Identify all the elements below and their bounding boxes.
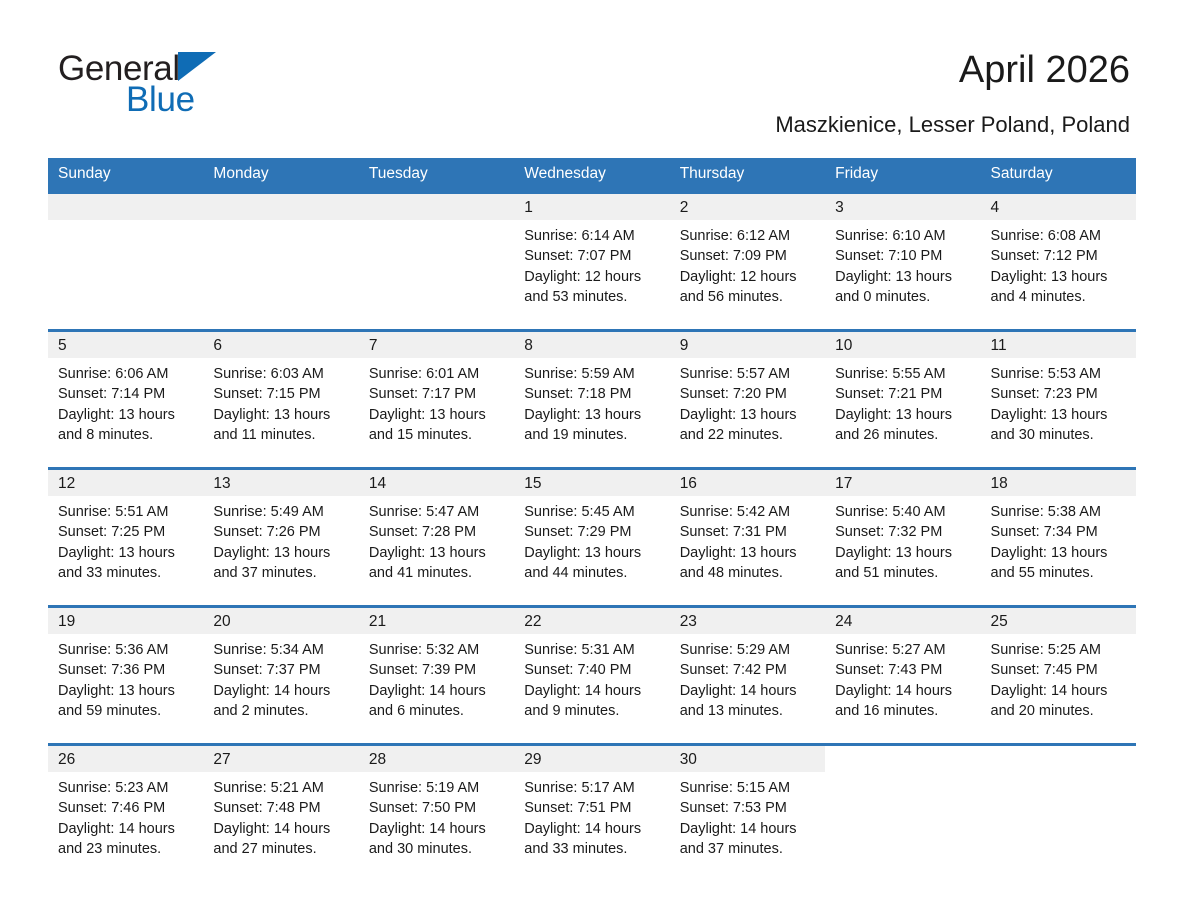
sunrise-sunset-calendar: Sunday Monday Tuesday Wednesday Thursday… <box>48 158 1136 872</box>
sunrise-text: Sunrise: 6:03 AM <box>213 364 358 384</box>
sunset-text: Sunset: 7:40 PM <box>524 660 669 680</box>
week-spacer-cell <box>48 596 1136 605</box>
daylight-text-line1: Daylight: 13 hours <box>58 681 203 701</box>
day-number: 7 <box>359 332 514 358</box>
week-spacer <box>48 734 1136 743</box>
daylight-text-line1: Daylight: 13 hours <box>58 405 203 425</box>
day-details: Sunrise: 5:49 AMSunset: 7:26 PMDaylight:… <box>203 496 358 583</box>
calendar-week-row: 1Sunrise: 6:14 AMSunset: 7:07 PMDaylight… <box>48 194 1136 320</box>
day-cell-6[interactable]: 6Sunrise: 6:03 AMSunset: 7:15 PMDaylight… <box>203 332 358 458</box>
daylight-text-line1: Daylight: 14 hours <box>680 819 825 839</box>
day-details: Sunrise: 5:51 AMSunset: 7:25 PMDaylight:… <box>48 496 203 583</box>
day-cell-7[interactable]: 7Sunrise: 6:01 AMSunset: 7:17 PMDaylight… <box>359 332 514 458</box>
sunset-text: Sunset: 7:42 PM <box>680 660 825 680</box>
day-cell-5[interactable]: 5Sunrise: 6:06 AMSunset: 7:14 PMDaylight… <box>48 332 203 458</box>
day-number <box>981 746 1136 772</box>
calendar-day-cell[interactable]: 7Sunrise: 6:01 AMSunset: 7:17 PMDaylight… <box>359 332 514 458</box>
sunset-text: Sunset: 7:36 PM <box>58 660 203 680</box>
week-spacer <box>48 458 1136 467</box>
day-cell-21[interactable]: 21Sunrise: 5:32 AMSunset: 7:39 PMDayligh… <box>359 608 514 734</box>
sunrise-text: Sunrise: 5:21 AM <box>213 778 358 798</box>
calendar-day-cell[interactable]: 22Sunrise: 5:31 AMSunset: 7:40 PMDayligh… <box>514 608 669 734</box>
daylight-text-line1: Daylight: 13 hours <box>680 543 825 563</box>
day-cell-17[interactable]: 17Sunrise: 5:40 AMSunset: 7:32 PMDayligh… <box>825 470 980 596</box>
calendar-day-cell[interactable]: 1Sunrise: 6:14 AMSunset: 7:07 PMDaylight… <box>514 194 669 320</box>
daylight-text-line1: Daylight: 13 hours <box>369 543 514 563</box>
calendar-week-row: 26Sunrise: 5:23 AMSunset: 7:46 PMDayligh… <box>48 746 1136 872</box>
week-spacer-cell <box>48 734 1136 743</box>
day-details: Sunrise: 5:21 AMSunset: 7:48 PMDaylight:… <box>203 772 358 859</box>
sunset-text: Sunset: 7:12 PM <box>991 246 1136 266</box>
calendar-body: 1Sunrise: 6:14 AMSunset: 7:07 PMDaylight… <box>48 191 1136 872</box>
day-number <box>359 194 514 220</box>
sunrise-text: Sunrise: 5:34 AM <box>213 640 358 660</box>
calendar-day-cell[interactable]: 25Sunrise: 5:25 AMSunset: 7:45 PMDayligh… <box>981 608 1136 734</box>
sunset-text: Sunset: 7:26 PM <box>213 522 358 542</box>
day-details: Sunrise: 5:45 AMSunset: 7:29 PMDaylight:… <box>514 496 669 583</box>
sunrise-text: Sunrise: 5:32 AM <box>369 640 514 660</box>
day-cell-10[interactable]: 10Sunrise: 5:55 AMSunset: 7:21 PMDayligh… <box>825 332 980 458</box>
calendar-day-cell[interactable] <box>359 194 514 320</box>
day-details: Sunrise: 5:25 AMSunset: 7:45 PMDaylight:… <box>981 634 1136 721</box>
day-number: 21 <box>359 608 514 634</box>
day-cell-2[interactable]: 2Sunrise: 6:12 AMSunset: 7:09 PMDaylight… <box>670 194 825 320</box>
day-cell-4[interactable]: 4Sunrise: 6:08 AMSunset: 7:12 PMDaylight… <box>981 194 1136 320</box>
sunset-text: Sunset: 7:21 PM <box>835 384 980 404</box>
day-cell-12[interactable]: 12Sunrise: 5:51 AMSunset: 7:25 PMDayligh… <box>48 470 203 596</box>
daylight-text-line1: Daylight: 13 hours <box>680 405 825 425</box>
sunrise-text: Sunrise: 5:51 AM <box>58 502 203 522</box>
daylight-text-line2: and 33 minutes. <box>58 563 203 583</box>
sunset-text: Sunset: 7:46 PM <box>58 798 203 818</box>
sunrise-text: Sunrise: 6:01 AM <box>369 364 514 384</box>
calendar-week-row: 12Sunrise: 5:51 AMSunset: 7:25 PMDayligh… <box>48 470 1136 596</box>
day-number: 30 <box>670 746 825 772</box>
calendar-header-row: Sunday Monday Tuesday Wednesday Thursday… <box>48 158 1136 191</box>
sunset-text: Sunset: 7:10 PM <box>835 246 980 266</box>
daylight-text-line2: and 0 minutes. <box>835 287 980 307</box>
calendar-day-cell[interactable]: 21Sunrise: 5:32 AMSunset: 7:39 PMDayligh… <box>359 608 514 734</box>
sunrise-text: Sunrise: 5:55 AM <box>835 364 980 384</box>
sunset-text: Sunset: 7:53 PM <box>680 798 825 818</box>
day-details: Sunrise: 5:57 AMSunset: 7:20 PMDaylight:… <box>670 358 825 445</box>
day-number: 29 <box>514 746 669 772</box>
sunset-text: Sunset: 7:51 PM <box>524 798 669 818</box>
sunset-text: Sunset: 7:18 PM <box>524 384 669 404</box>
calendar-day-cell[interactable]: 14Sunrise: 5:47 AMSunset: 7:28 PMDayligh… <box>359 470 514 596</box>
sunset-text: Sunset: 7:31 PM <box>680 522 825 542</box>
day-number <box>48 194 203 220</box>
day-details: Sunrise: 5:15 AMSunset: 7:53 PMDaylight:… <box>670 772 825 859</box>
day-number: 13 <box>203 470 358 496</box>
day-details: Sunrise: 5:55 AMSunset: 7:21 PMDaylight:… <box>825 358 980 445</box>
day-cell-empty <box>825 746 980 872</box>
daylight-text-line1: Daylight: 14 hours <box>369 819 514 839</box>
calendar-day-cell[interactable]: 9Sunrise: 5:57 AMSunset: 7:20 PMDaylight… <box>670 332 825 458</box>
weekday-header-saturday: Saturday <box>981 158 1136 191</box>
calendar-day-cell[interactable]: 13Sunrise: 5:49 AMSunset: 7:26 PMDayligh… <box>203 470 358 596</box>
daylight-text-line1: Daylight: 14 hours <box>991 681 1136 701</box>
day-number: 25 <box>981 608 1136 634</box>
calendar-day-cell[interactable]: 16Sunrise: 5:42 AMSunset: 7:31 PMDayligh… <box>670 470 825 596</box>
calendar-week-row: 19Sunrise: 5:36 AMSunset: 7:36 PMDayligh… <box>48 608 1136 734</box>
daylight-text-line1: Daylight: 13 hours <box>835 543 980 563</box>
day-number: 5 <box>48 332 203 358</box>
daylight-text-line2: and 19 minutes. <box>524 425 669 445</box>
day-cell-22[interactable]: 22Sunrise: 5:31 AMSunset: 7:40 PMDayligh… <box>514 608 669 734</box>
daylight-text-line2: and 9 minutes. <box>524 701 669 721</box>
sunset-text: Sunset: 7:43 PM <box>835 660 980 680</box>
calendar-day-cell[interactable]: 15Sunrise: 5:45 AMSunset: 7:29 PMDayligh… <box>514 470 669 596</box>
day-details: Sunrise: 5:19 AMSunset: 7:50 PMDaylight:… <box>359 772 514 859</box>
day-details: Sunrise: 5:53 AMSunset: 7:23 PMDaylight:… <box>981 358 1136 445</box>
calendar-day-cell[interactable] <box>203 194 358 320</box>
sunrise-text: Sunrise: 5:47 AM <box>369 502 514 522</box>
day-number: 14 <box>359 470 514 496</box>
daylight-text-line2: and 56 minutes. <box>680 287 825 307</box>
calendar-day-cell[interactable]: 17Sunrise: 5:40 AMSunset: 7:32 PMDayligh… <box>825 470 980 596</box>
daylight-text-line2: and 53 minutes. <box>524 287 669 307</box>
sunset-text: Sunset: 7:32 PM <box>835 522 980 542</box>
daylight-text-line1: Daylight: 13 hours <box>213 405 358 425</box>
sunrise-text: Sunrise: 5:42 AM <box>680 502 825 522</box>
calendar-day-cell[interactable]: 27Sunrise: 5:21 AMSunset: 7:48 PMDayligh… <box>203 746 358 872</box>
daylight-text-line1: Daylight: 14 hours <box>835 681 980 701</box>
sunrise-text: Sunrise: 6:14 AM <box>524 226 669 246</box>
daylight-text-line2: and 51 minutes. <box>835 563 980 583</box>
weekday-header-sunday: Sunday <box>48 158 203 191</box>
day-cell-18[interactable]: 18Sunrise: 5:38 AMSunset: 7:34 PMDayligh… <box>981 470 1136 596</box>
day-cell-8[interactable]: 8Sunrise: 5:59 AMSunset: 7:18 PMDaylight… <box>514 332 669 458</box>
weekday-header-friday: Friday <box>825 158 980 191</box>
day-details: Sunrise: 5:32 AMSunset: 7:39 PMDaylight:… <box>359 634 514 721</box>
sunset-text: Sunset: 7:07 PM <box>524 246 669 266</box>
day-cell-empty <box>203 194 358 320</box>
sunset-text: Sunset: 7:25 PM <box>58 522 203 542</box>
daylight-text-line1: Daylight: 13 hours <box>524 405 669 425</box>
calendar-day-cell[interactable]: 18Sunrise: 5:38 AMSunset: 7:34 PMDayligh… <box>981 470 1136 596</box>
sunrise-text: Sunrise: 5:40 AM <box>835 502 980 522</box>
day-details: Sunrise: 5:27 AMSunset: 7:43 PMDaylight:… <box>825 634 980 721</box>
day-cell-3[interactable]: 3Sunrise: 6:10 AMSunset: 7:10 PMDaylight… <box>825 194 980 320</box>
calendar-day-cell[interactable]: 24Sunrise: 5:27 AMSunset: 7:43 PMDayligh… <box>825 608 980 734</box>
sunrise-text: Sunrise: 5:38 AM <box>991 502 1136 522</box>
week-spacer <box>48 596 1136 605</box>
sunrise-text: Sunrise: 5:31 AM <box>524 640 669 660</box>
sunrise-text: Sunrise: 5:57 AM <box>680 364 825 384</box>
day-cell-27[interactable]: 27Sunrise: 5:21 AMSunset: 7:48 PMDayligh… <box>203 746 358 872</box>
day-number: 17 <box>825 470 980 496</box>
sunrise-text: Sunrise: 5:53 AM <box>991 364 1136 384</box>
daylight-text-line2: and 33 minutes. <box>524 839 669 859</box>
day-number: 12 <box>48 470 203 496</box>
day-cell-15[interactable]: 15Sunrise: 5:45 AMSunset: 7:29 PMDayligh… <box>514 470 669 596</box>
daylight-text-line1: Daylight: 14 hours <box>524 681 669 701</box>
calendar-week-row: 5Sunrise: 6:06 AMSunset: 7:14 PMDaylight… <box>48 332 1136 458</box>
sunset-text: Sunset: 7:28 PM <box>369 522 514 542</box>
daylight-text-line1: Daylight: 13 hours <box>213 543 358 563</box>
sunset-text: Sunset: 7:20 PM <box>680 384 825 404</box>
sunset-text: Sunset: 7:37 PM <box>213 660 358 680</box>
daylight-text-line2: and 41 minutes. <box>369 563 514 583</box>
daylight-text-line2: and 59 minutes. <box>58 701 203 721</box>
day-number: 24 <box>825 608 980 634</box>
daylight-text-line2: and 26 minutes. <box>835 425 980 445</box>
daylight-text-line2: and 37 minutes. <box>213 563 358 583</box>
week-spacer-cell <box>48 320 1136 329</box>
sunrise-text: Sunrise: 5:15 AM <box>680 778 825 798</box>
sunrise-text: Sunrise: 5:19 AM <box>369 778 514 798</box>
daylight-text-line1: Daylight: 13 hours <box>991 543 1136 563</box>
day-cell-14[interactable]: 14Sunrise: 5:47 AMSunset: 7:28 PMDayligh… <box>359 470 514 596</box>
calendar-day-cell[interactable] <box>48 194 203 320</box>
day-details: Sunrise: 6:10 AMSunset: 7:10 PMDaylight:… <box>825 220 980 307</box>
day-details: Sunrise: 5:40 AMSunset: 7:32 PMDaylight:… <box>825 496 980 583</box>
calendar-day-cell[interactable]: 28Sunrise: 5:19 AMSunset: 7:50 PMDayligh… <box>359 746 514 872</box>
day-cell-28[interactable]: 28Sunrise: 5:19 AMSunset: 7:50 PMDayligh… <box>359 746 514 872</box>
sunrise-text: Sunrise: 5:36 AM <box>58 640 203 660</box>
day-number: 26 <box>48 746 203 772</box>
daylight-text-line1: Daylight: 14 hours <box>524 819 669 839</box>
sunrise-text: Sunrise: 6:08 AM <box>991 226 1136 246</box>
sunset-text: Sunset: 7:14 PM <box>58 384 203 404</box>
day-number: 15 <box>514 470 669 496</box>
day-cell-26[interactable]: 26Sunrise: 5:23 AMSunset: 7:46 PMDayligh… <box>48 746 203 872</box>
sunset-text: Sunset: 7:48 PM <box>213 798 358 818</box>
daylight-text-line2: and 48 minutes. <box>680 563 825 583</box>
daylight-text-line1: Daylight: 12 hours <box>524 267 669 287</box>
day-cell-25[interactable]: 25Sunrise: 5:25 AMSunset: 7:45 PMDayligh… <box>981 608 1136 734</box>
calendar-day-cell[interactable]: 5Sunrise: 6:06 AMSunset: 7:14 PMDaylight… <box>48 332 203 458</box>
week-spacer-cell <box>48 458 1136 467</box>
calendar-day-cell[interactable]: 6Sunrise: 6:03 AMSunset: 7:15 PMDaylight… <box>203 332 358 458</box>
day-details: Sunrise: 6:03 AMSunset: 7:15 PMDaylight:… <box>203 358 358 445</box>
day-details: Sunrise: 5:38 AMSunset: 7:34 PMDaylight:… <box>981 496 1136 583</box>
day-number: 20 <box>203 608 358 634</box>
sunrise-text: Sunrise: 6:10 AM <box>835 226 980 246</box>
daylight-text-line1: Daylight: 14 hours <box>680 681 825 701</box>
day-number: 18 <box>981 470 1136 496</box>
day-number: 8 <box>514 332 669 358</box>
calendar-day-cell[interactable]: 29Sunrise: 5:17 AMSunset: 7:51 PMDayligh… <box>514 746 669 872</box>
daylight-text-line2: and 23 minutes. <box>58 839 203 859</box>
daylight-text-line2: and 22 minutes. <box>680 425 825 445</box>
day-cell-30[interactable]: 30Sunrise: 5:15 AMSunset: 7:53 PMDayligh… <box>670 746 825 872</box>
calendar-day-cell[interactable] <box>825 746 980 872</box>
daylight-text-line1: Daylight: 14 hours <box>213 681 358 701</box>
day-cell-13[interactable]: 13Sunrise: 5:49 AMSunset: 7:26 PMDayligh… <box>203 470 358 596</box>
sunrise-text: Sunrise: 5:29 AM <box>680 640 825 660</box>
day-number: 9 <box>670 332 825 358</box>
daylight-text-line1: Daylight: 12 hours <box>680 267 825 287</box>
day-details: Sunrise: 5:17 AMSunset: 7:51 PMDaylight:… <box>514 772 669 859</box>
day-number: 6 <box>203 332 358 358</box>
triangle-logo-icon <box>178 52 216 81</box>
calendar-day-cell[interactable] <box>981 746 1136 872</box>
day-details: Sunrise: 5:34 AMSunset: 7:37 PMDaylight:… <box>203 634 358 721</box>
page-title: April 2026 <box>959 47 1130 93</box>
daylight-text-line2: and 55 minutes. <box>991 563 1136 583</box>
day-number: 2 <box>670 194 825 220</box>
sunrise-text: Sunrise: 5:17 AM <box>524 778 669 798</box>
day-number: 3 <box>825 194 980 220</box>
sunrise-text: Sunrise: 5:49 AM <box>213 502 358 522</box>
day-number: 1 <box>514 194 669 220</box>
day-cell-11[interactable]: 11Sunrise: 5:53 AMSunset: 7:23 PMDayligh… <box>981 332 1136 458</box>
day-details: Sunrise: 6:06 AMSunset: 7:14 PMDaylight:… <box>48 358 203 445</box>
sunrise-text: Sunrise: 5:27 AM <box>835 640 980 660</box>
calendar-day-cell[interactable]: 19Sunrise: 5:36 AMSunset: 7:36 PMDayligh… <box>48 608 203 734</box>
weekday-header-tuesday: Tuesday <box>359 158 514 191</box>
day-number: 23 <box>670 608 825 634</box>
daylight-text-line1: Daylight: 13 hours <box>835 267 980 287</box>
weekday-header-monday: Monday <box>203 158 358 191</box>
day-number: 28 <box>359 746 514 772</box>
daylight-text-line1: Daylight: 13 hours <box>524 543 669 563</box>
day-cell-empty <box>359 194 514 320</box>
daylight-text-line2: and 8 minutes. <box>58 425 203 445</box>
calendar-page: General Blue April 2026 Maszkienice, Les… <box>0 0 1188 918</box>
day-details: Sunrise: 5:36 AMSunset: 7:36 PMDaylight:… <box>48 634 203 721</box>
day-cell-1[interactable]: 1Sunrise: 6:14 AMSunset: 7:07 PMDaylight… <box>514 194 669 320</box>
day-number: 22 <box>514 608 669 634</box>
daylight-text-line1: Daylight: 13 hours <box>991 405 1136 425</box>
daylight-text-line2: and 2 minutes. <box>213 701 358 721</box>
day-details: Sunrise: 5:59 AMSunset: 7:18 PMDaylight:… <box>514 358 669 445</box>
day-details: Sunrise: 5:29 AMSunset: 7:42 PMDaylight:… <box>670 634 825 721</box>
calendar-day-cell[interactable]: 10Sunrise: 5:55 AMSunset: 7:21 PMDayligh… <box>825 332 980 458</box>
sunset-text: Sunset: 7:34 PM <box>991 522 1136 542</box>
daylight-text-line1: Daylight: 14 hours <box>58 819 203 839</box>
daylight-text-line1: Daylight: 13 hours <box>991 267 1136 287</box>
day-details: Sunrise: 6:01 AMSunset: 7:17 PMDaylight:… <box>359 358 514 445</box>
page-subtitle: Maszkienice, Lesser Poland, Poland <box>775 112 1130 138</box>
weekday-header-thursday: Thursday <box>670 158 825 191</box>
day-cell-29[interactable]: 29Sunrise: 5:17 AMSunset: 7:51 PMDayligh… <box>514 746 669 872</box>
day-number: 16 <box>670 470 825 496</box>
daylight-text-line2: and 27 minutes. <box>213 839 358 859</box>
calendar-day-cell[interactable]: 20Sunrise: 5:34 AMSunset: 7:37 PMDayligh… <box>203 608 358 734</box>
day-details: Sunrise: 5:42 AMSunset: 7:31 PMDaylight:… <box>670 496 825 583</box>
sunrise-text: Sunrise: 5:45 AM <box>524 502 669 522</box>
day-details: Sunrise: 5:47 AMSunset: 7:28 PMDaylight:… <box>359 496 514 583</box>
logo-text-blue: Blue <box>126 82 358 118</box>
calendar-day-cell[interactable]: 8Sunrise: 5:59 AMSunset: 7:18 PMDaylight… <box>514 332 669 458</box>
calendar-day-cell[interactable]: 3Sunrise: 6:10 AMSunset: 7:10 PMDaylight… <box>825 194 980 320</box>
day-cell-empty <box>48 194 203 320</box>
sunset-text: Sunset: 7:09 PM <box>680 246 825 266</box>
sunrise-text: Sunrise: 5:23 AM <box>58 778 203 798</box>
daylight-text-line1: Daylight: 13 hours <box>369 405 514 425</box>
calendar-day-cell[interactable]: 23Sunrise: 5:29 AMSunset: 7:42 PMDayligh… <box>670 608 825 734</box>
calendar-day-cell[interactable]: 11Sunrise: 5:53 AMSunset: 7:23 PMDayligh… <box>981 332 1136 458</box>
sunset-text: Sunset: 7:29 PM <box>524 522 669 542</box>
daylight-text-line2: and 44 minutes. <box>524 563 669 583</box>
calendar-day-cell[interactable]: 26Sunrise: 5:23 AMSunset: 7:46 PMDayligh… <box>48 746 203 872</box>
day-cell-20[interactable]: 20Sunrise: 5:34 AMSunset: 7:37 PMDayligh… <box>203 608 358 734</box>
sunset-text: Sunset: 7:39 PM <box>369 660 514 680</box>
daylight-text-line2: and 16 minutes. <box>835 701 980 721</box>
sunset-text: Sunset: 7:23 PM <box>991 384 1136 404</box>
day-details: Sunrise: 6:14 AMSunset: 7:07 PMDaylight:… <box>514 220 669 307</box>
day-cell-19[interactable]: 19Sunrise: 5:36 AMSunset: 7:36 PMDayligh… <box>48 608 203 734</box>
day-number: 4 <box>981 194 1136 220</box>
daylight-text-line2: and 13 minutes. <box>680 701 825 721</box>
daylight-text-line2: and 30 minutes. <box>991 425 1136 445</box>
day-details: Sunrise: 6:12 AMSunset: 7:09 PMDaylight:… <box>670 220 825 307</box>
daylight-text-line1: Daylight: 14 hours <box>369 681 514 701</box>
sunrise-text: Sunrise: 6:12 AM <box>680 226 825 246</box>
day-details: Sunrise: 5:23 AMSunset: 7:46 PMDaylight:… <box>48 772 203 859</box>
general-blue-logo[interactable]: General Blue <box>58 50 358 122</box>
sunset-text: Sunset: 7:15 PM <box>213 384 358 404</box>
day-cell-23[interactable]: 23Sunrise: 5:29 AMSunset: 7:42 PMDayligh… <box>670 608 825 734</box>
daylight-text-line1: Daylight: 14 hours <box>213 819 358 839</box>
sunrise-text: Sunrise: 6:06 AM <box>58 364 203 384</box>
calendar-day-cell[interactable]: 30Sunrise: 5:15 AMSunset: 7:53 PMDayligh… <box>670 746 825 872</box>
day-number <box>825 746 980 772</box>
day-details: Sunrise: 5:31 AMSunset: 7:40 PMDaylight:… <box>514 634 669 721</box>
calendar-day-cell[interactable]: 2Sunrise: 6:12 AMSunset: 7:09 PMDaylight… <box>670 194 825 320</box>
sunrise-text: Sunrise: 5:59 AM <box>524 364 669 384</box>
sunset-text: Sunset: 7:50 PM <box>369 798 514 818</box>
sunrise-text: Sunrise: 5:25 AM <box>991 640 1136 660</box>
day-cell-empty <box>981 746 1136 872</box>
page-header: General Blue April 2026 Maszkienice, Les… <box>0 0 1188 108</box>
daylight-text-line2: and 20 minutes. <box>991 701 1136 721</box>
calendar-day-cell[interactable]: 12Sunrise: 5:51 AMSunset: 7:25 PMDayligh… <box>48 470 203 596</box>
sunset-text: Sunset: 7:17 PM <box>369 384 514 404</box>
daylight-text-line1: Daylight: 13 hours <box>58 543 203 563</box>
day-number: 10 <box>825 332 980 358</box>
weekday-header-wednesday: Wednesday <box>514 158 669 191</box>
daylight-text-line2: and 4 minutes. <box>991 287 1136 307</box>
daylight-text-line2: and 30 minutes. <box>369 839 514 859</box>
week-spacer <box>48 320 1136 329</box>
daylight-text-line2: and 15 minutes. <box>369 425 514 445</box>
day-cell-24[interactable]: 24Sunrise: 5:27 AMSunset: 7:43 PMDayligh… <box>825 608 980 734</box>
calendar-day-cell[interactable]: 4Sunrise: 6:08 AMSunset: 7:12 PMDaylight… <box>981 194 1136 320</box>
day-details: Sunrise: 6:08 AMSunset: 7:12 PMDaylight:… <box>981 220 1136 307</box>
day-cell-9[interactable]: 9Sunrise: 5:57 AMSunset: 7:20 PMDaylight… <box>670 332 825 458</box>
day-number <box>203 194 358 220</box>
day-number: 11 <box>981 332 1136 358</box>
day-number: 19 <box>48 608 203 634</box>
day-number: 27 <box>203 746 358 772</box>
daylight-text-line2: and 37 minutes. <box>680 839 825 859</box>
daylight-text-line2: and 11 minutes. <box>213 425 358 445</box>
sunset-text: Sunset: 7:45 PM <box>991 660 1136 680</box>
daylight-text-line2: and 6 minutes. <box>369 701 514 721</box>
day-cell-16[interactable]: 16Sunrise: 5:42 AMSunset: 7:31 PMDayligh… <box>670 470 825 596</box>
daylight-text-line1: Daylight: 13 hours <box>835 405 980 425</box>
